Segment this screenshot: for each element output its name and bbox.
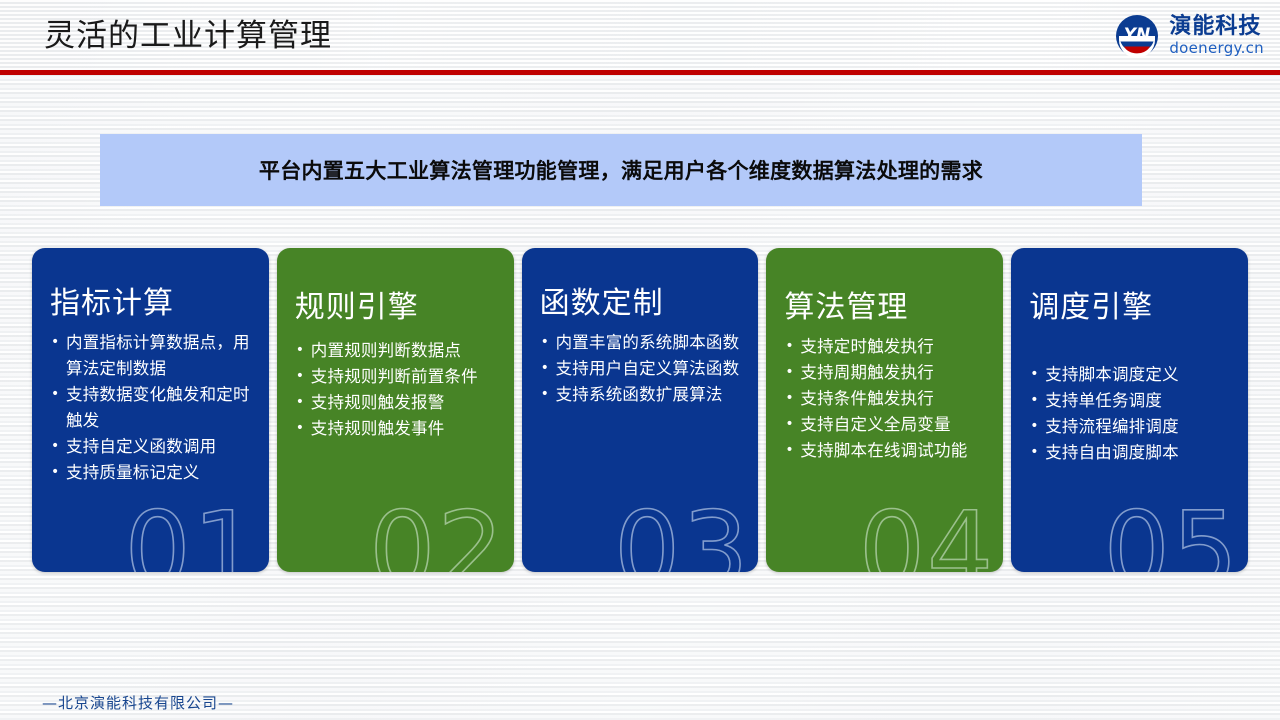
card-title: 规则引擎 <box>295 290 500 326</box>
card-bullet: 内置指标计算数据点，用算法定制数据 <box>50 330 255 382</box>
logo-wordmark: 演能科技 doenergy.cn <box>1169 14 1264 58</box>
card-bullet: 支持脚本调度定义 <box>1029 362 1234 388</box>
card-bullet: 支持质量标记定义 <box>50 460 255 486</box>
yn-badge-icon: YN <box>1114 13 1160 59</box>
feature-card-02[interactable]: 02 规则引擎 内置规则判断数据点 支持规则判断前置条件 支持规则触发报警 支持… <box>277 248 514 572</box>
card-bullet: 支持用户自定义算法函数 <box>540 356 745 382</box>
feature-card-03[interactable]: 03 函数定制 内置丰富的系统脚本函数 支持用户自定义算法函数 支持系统函数扩展… <box>522 248 759 572</box>
card-content: 算法管理 支持定时触发执行 支持周期触发执行 支持条件触发执行 支持自定义全局变… <box>766 248 1003 572</box>
card-content: 规则引擎 内置规则判断数据点 支持规则判断前置条件 支持规则触发报警 支持规则触… <box>277 248 514 572</box>
card-bullet: 内置丰富的系统脚本函数 <box>540 330 745 356</box>
header-divider <box>0 70 1280 75</box>
card-bullet: 支持自定义函数调用 <box>50 434 255 460</box>
card-bullet: 支持系统函数扩展算法 <box>540 382 745 408</box>
card-content: 指标计算 内置指标计算数据点，用算法定制数据 支持数据变化触发和定时触发 支持自… <box>32 248 269 572</box>
card-bullet: 支持脚本在线调试功能 <box>784 438 989 464</box>
card-bullet: 内置规则判断数据点 <box>295 338 500 364</box>
card-bullet: 支持条件触发执行 <box>784 386 989 412</box>
card-bullet: 支持规则判断前置条件 <box>295 364 500 390</box>
svg-text:YN: YN <box>1124 25 1151 45</box>
summary-banner-text: 平台内置五大工业算法管理功能管理，满足用户各个维度数据算法处理的需求 <box>259 155 983 185</box>
feature-card-05[interactable]: 05 调度引擎 支持脚本调度定义 支持单任务调度 支持流程编排调度 支持自由调度… <box>1011 248 1248 572</box>
card-bullet: 支持自由调度脚本 <box>1029 440 1234 466</box>
card-bullet: 支持周期触发执行 <box>784 360 989 386</box>
slide-header: 灵活的工业计算管理 YN 演能科技 doenergy.cn <box>0 0 1280 70</box>
feature-card-01[interactable]: 01 指标计算 内置指标计算数据点，用算法定制数据 支持数据变化触发和定时触发 … <box>32 248 269 572</box>
card-bullet: 支持规则触发事件 <box>295 416 500 442</box>
card-bullet: 支持规则触发报警 <box>295 390 500 416</box>
card-content: 函数定制 内置丰富的系统脚本函数 支持用户自定义算法函数 支持系统函数扩展算法 <box>522 248 759 572</box>
logo-domain: doenergy.cn <box>1169 39 1264 58</box>
card-bullet: 支持自定义全局变量 <box>784 412 989 438</box>
card-bullet-list: 支持脚本调度定义 支持单任务调度 支持流程编排调度 支持自由调度脚本 <box>1029 362 1234 466</box>
card-bullet: 支持单任务调度 <box>1029 388 1234 414</box>
card-title: 算法管理 <box>784 290 989 326</box>
page-title: 灵活的工业计算管理 <box>44 16 332 56</box>
card-bullet: 支持数据变化触发和定时触发 <box>50 382 255 434</box>
card-bullet: 支持流程编排调度 <box>1029 414 1234 440</box>
feature-card-04[interactable]: 04 算法管理 支持定时触发执行 支持周期触发执行 支持条件触发执行 支持自定义… <box>766 248 1003 572</box>
card-bullet-list: 内置指标计算数据点，用算法定制数据 支持数据变化触发和定时触发 支持自定义函数调… <box>50 330 255 486</box>
card-content: 调度引擎 支持脚本调度定义 支持单任务调度 支持流程编排调度 支持自由调度脚本 <box>1011 248 1248 572</box>
card-bullet-list: 支持定时触发执行 支持周期触发执行 支持条件触发执行 支持自定义全局变量 支持脚… <box>784 334 989 464</box>
summary-banner: 平台内置五大工业算法管理功能管理，满足用户各个维度数据算法处理的需求 <box>100 134 1142 206</box>
card-bullet: 支持定时触发执行 <box>784 334 989 360</box>
feature-card-row: 01 指标计算 内置指标计算数据点，用算法定制数据 支持数据变化触发和定时触发 … <box>32 248 1248 572</box>
company-logo: YN 演能科技 doenergy.cn <box>1114 11 1264 61</box>
card-title: 函数定制 <box>540 286 745 322</box>
card-title: 指标计算 <box>50 286 255 322</box>
slide-canvas: 灵活的工业计算管理 YN 演能科技 doenergy.cn 平台内置五大工业算法… <box>0 0 1280 720</box>
slide-footer: —北京演能科技有限公司— <box>42 692 234 713</box>
card-title: 调度引擎 <box>1029 290 1234 326</box>
logo-company-name: 演能科技 <box>1169 14 1264 39</box>
card-bullet-list: 内置丰富的系统脚本函数 支持用户自定义算法函数 支持系统函数扩展算法 <box>540 330 745 408</box>
card-bullet-list: 内置规则判断数据点 支持规则判断前置条件 支持规则触发报警 支持规则触发事件 <box>295 338 500 442</box>
